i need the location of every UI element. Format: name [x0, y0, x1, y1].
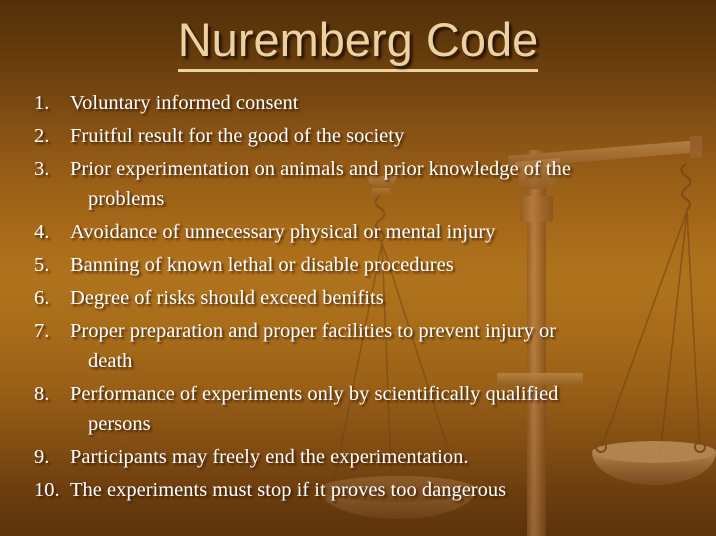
list-item-text-wrap: death [70, 346, 684, 376]
list-item: 2. Fruitful result for the good of the s… [34, 121, 684, 151]
list-item-text-block: Performance of experiments only by scien… [68, 379, 684, 439]
list-item-text: Degree of risks should exceed benifits [68, 283, 684, 313]
list-item-text: Prior experimentation on animals and pri… [70, 158, 571, 180]
list-item-text-block: Proper preparation and proper facilities… [68, 316, 684, 376]
list-item-number: 5. [34, 250, 68, 280]
list-item-number: 10. [34, 475, 68, 505]
list-item-text-block: Prior experimentation on animals and pri… [68, 154, 684, 214]
list-item: 3. Prior experimentation on animals and … [34, 154, 684, 214]
list-item-text: Participants may freely end the experime… [68, 442, 684, 472]
list-item-text: Performance of experiments only by scien… [70, 383, 558, 405]
list-item-text: Voluntary informed consent [68, 88, 684, 118]
presentation-slide: Nuremberg Code 1. Voluntary informed con… [0, 0, 716, 536]
list-item-text: Proper preparation and proper facilities… [70, 320, 556, 342]
list-item: 9. Participants may freely end the exper… [34, 442, 684, 472]
list-item: 4. Avoidance of unnecessary physical or … [34, 217, 684, 247]
slide-title-text: Nuremberg Code [178, 12, 539, 72]
list-item-text: Banning of known lethal or disable proce… [68, 250, 684, 280]
list-item-number: 7. [34, 316, 68, 346]
list-item-number: 1. [34, 88, 68, 118]
list-item-number: 9. [34, 442, 68, 472]
list-item: 8. Performance of experiments only by sc… [34, 379, 684, 439]
list-item-number: 6. [34, 283, 68, 313]
list-item: 1. Voluntary informed consent [34, 88, 684, 118]
slide-title: Nuremberg Code [0, 12, 716, 72]
list-item: 10. The experiments must stop if it prov… [34, 475, 684, 505]
list-item-text: Avoidance of unnecessary physical or men… [68, 217, 684, 247]
list-item-text-wrap: persons [70, 409, 684, 439]
list-item: 7. Proper preparation and proper facilit… [34, 316, 684, 376]
list-item: 6. Degree of risks should exceed benifit… [34, 283, 684, 313]
list-item-number: 3. [34, 154, 68, 184]
list-item: 5. Banning of known lethal or disable pr… [34, 250, 684, 280]
list-item-text: The experiments must stop if it proves t… [68, 475, 684, 505]
list-item-number: 2. [34, 121, 68, 151]
list-item-text-wrap: problems [70, 184, 684, 214]
list-item-number: 8. [34, 379, 68, 409]
list-item-number: 4. [34, 217, 68, 247]
numbered-list: 1. Voluntary informed consent 2. Fruitfu… [34, 88, 684, 508]
list-item-text: Fruitful result for the good of the soci… [68, 121, 684, 151]
